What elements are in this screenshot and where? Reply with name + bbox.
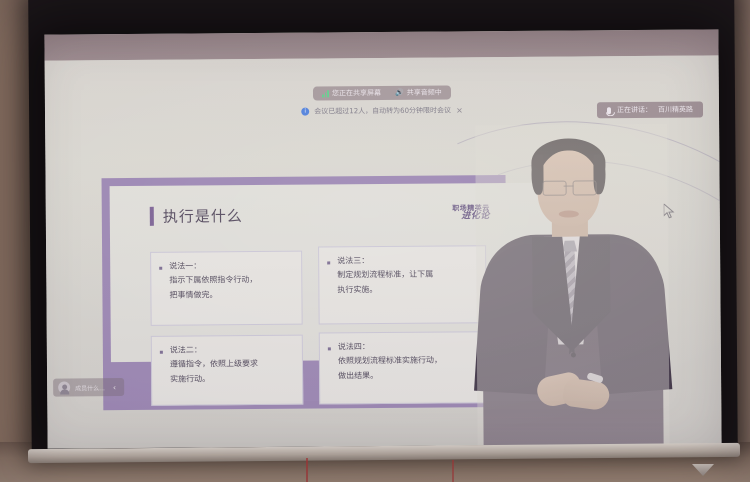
close-icon[interactable]: ✕ bbox=[456, 106, 463, 115]
slide-box-4-line1: 依照规划流程标准实施行动， bbox=[338, 353, 478, 367]
slide-box-2-label: 说法二： bbox=[170, 345, 202, 355]
presenter-glasses-left bbox=[543, 181, 567, 196]
slide-box-3-label: 说法三： bbox=[337, 256, 369, 266]
collapse-icon[interactable]: ‹ bbox=[110, 383, 119, 392]
title-accent-bar bbox=[150, 207, 154, 226]
audio-status-label: 共享音频中 bbox=[407, 88, 442, 98]
active-speaker-pill[interactable]: 正在讲话： 百川精英路 bbox=[597, 101, 703, 118]
room-photo-background: 您正在共享屏幕 🔊 共享音频中 i 会议已超过12人，自动转为60分钟限时会议 … bbox=[0, 0, 750, 482]
slide-box-3-line2: 执行实施。 bbox=[337, 282, 477, 296]
slide-box-1-head: 说法一： bbox=[159, 261, 293, 272]
slide-box-1-line2: 把事情做完。 bbox=[169, 288, 293, 302]
slide-box-3-line1: 制定规划流程标准，让下属 bbox=[337, 267, 477, 281]
signal-icon bbox=[322, 90, 329, 97]
share-status-label: 您正在共享屏幕 bbox=[332, 88, 381, 98]
screen-share-status-pill[interactable]: 您正在共享屏幕 🔊 共享音频中 bbox=[313, 85, 451, 100]
slide-box-2: 说法二： 遵循指令，依照上级要求 实施行动。 bbox=[151, 335, 304, 406]
projected-screen-content: 您正在共享屏幕 🔊 共享音频中 i 会议已超过12人，自动转为60分钟限时会议 … bbox=[44, 29, 721, 448]
slide-box-2-line2: 实施行动。 bbox=[170, 372, 294, 386]
slide-box-4-line2: 做出结果。 bbox=[338, 368, 478, 382]
presenter-suit-button bbox=[571, 352, 576, 357]
slide-box-1-label: 说法一： bbox=[169, 261, 201, 271]
bullet-icon bbox=[160, 351, 163, 354]
bullet-icon bbox=[328, 347, 331, 350]
slide-title-group: 执行是什么 bbox=[150, 205, 243, 227]
bullet-icon bbox=[327, 261, 330, 264]
slide-box-1: 说法一： 指示下属依照指令行动， 把事情做完。 bbox=[150, 251, 303, 326]
slide-box-2-line1: 遵循指令，依照上级要求 bbox=[170, 357, 294, 371]
presenter-glasses-bridge bbox=[564, 186, 574, 187]
meeting-share-canvas: 您正在共享屏幕 🔊 共享音频中 i 会议已超过12人，自动转为60分钟限时会议 … bbox=[45, 55, 722, 448]
cable-1 bbox=[306, 458, 308, 482]
slide-box-3: 说法三： 制定规划流程标准，让下属 执行实施。 bbox=[318, 245, 487, 324]
speaker-icon: 🔊 bbox=[395, 89, 404, 96]
slide-box-4-label: 说法四： bbox=[338, 342, 370, 352]
speaker-label: 正在讲话： bbox=[617, 105, 652, 115]
page-title: 执行是什么 bbox=[163, 205, 243, 227]
slide-box-2-head: 说法二： bbox=[160, 345, 294, 356]
participant-name: 成员什么... bbox=[75, 383, 105, 392]
slide-box-4: 说法四： 依照规划流程标准实施行动， 做出结果。 bbox=[319, 331, 488, 404]
presenter-video-overlay bbox=[475, 124, 670, 449]
meeting-notice-text: 会议已超过12人，自动转为60分钟限时会议 bbox=[314, 105, 451, 116]
slide-box-1-line1: 指示下属依照指令行动， bbox=[169, 273, 293, 287]
slide-box-3-head: 说法三： bbox=[327, 255, 477, 266]
share-status-item: 您正在共享屏幕 bbox=[322, 88, 381, 98]
cable-2 bbox=[452, 460, 454, 482]
audio-status-item: 🔊 共享音频中 bbox=[395, 88, 442, 98]
info-icon: i bbox=[301, 108, 309, 116]
slide-purple-panel: 执行是什么 职场精英云 进化论 说法一： 指示下属依照指令行动， 把事情做完。 bbox=[102, 175, 508, 410]
mic-icon bbox=[607, 107, 611, 114]
bullet-icon bbox=[159, 267, 162, 270]
participant-thumbnail-strip[interactable]: 成员什么... ‹ bbox=[53, 378, 124, 397]
presenter-glasses-right bbox=[573, 180, 597, 195]
avatar bbox=[58, 381, 70, 393]
slide-box-4-head: 说法四： bbox=[328, 341, 478, 352]
speaker-name: 百川精英路 bbox=[658, 105, 693, 115]
meeting-notice-bar: i 会议已超过12人，自动转为60分钟限时会议 ✕ bbox=[301, 105, 463, 116]
